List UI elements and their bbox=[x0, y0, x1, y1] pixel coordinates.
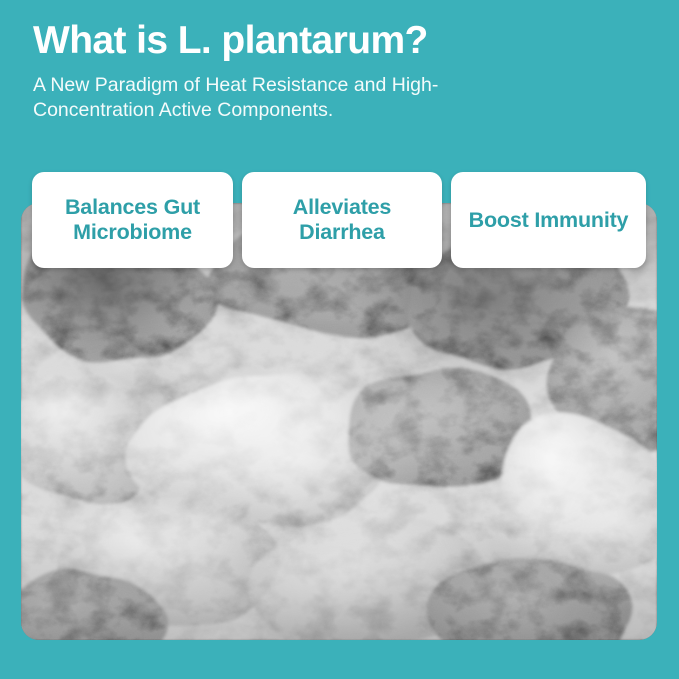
feature-card-balances-gut-microbiome[interactable]: Balances Gut Microbiome bbox=[32, 172, 233, 268]
feature-card-boost-immunity[interactable]: Boost Immunity bbox=[451, 172, 646, 268]
feature-card-alleviates-diarrhea[interactable]: Alleviates Diarrhea bbox=[242, 172, 442, 268]
feature-card-row: Balances Gut Microbiome Alleviates Diarr… bbox=[32, 172, 646, 268]
feature-card-label: Balances Gut Microbiome bbox=[40, 195, 225, 245]
sem-texture-graphic bbox=[21, 203, 657, 640]
feature-card-label: Boost Immunity bbox=[469, 208, 629, 233]
product-infographic-poster: What is L. plantarum? A New Paradigm of … bbox=[0, 0, 679, 679]
page-title: What is L. plantarum? bbox=[33, 18, 633, 64]
page-subtitle: A New Paradigm of Heat Resistance and Hi… bbox=[33, 73, 503, 123]
sem-micrograph-image bbox=[21, 203, 657, 640]
header-block: What is L. plantarum? A New Paradigm of … bbox=[33, 18, 633, 123]
feature-card-label: Alleviates Diarrhea bbox=[250, 195, 434, 245]
